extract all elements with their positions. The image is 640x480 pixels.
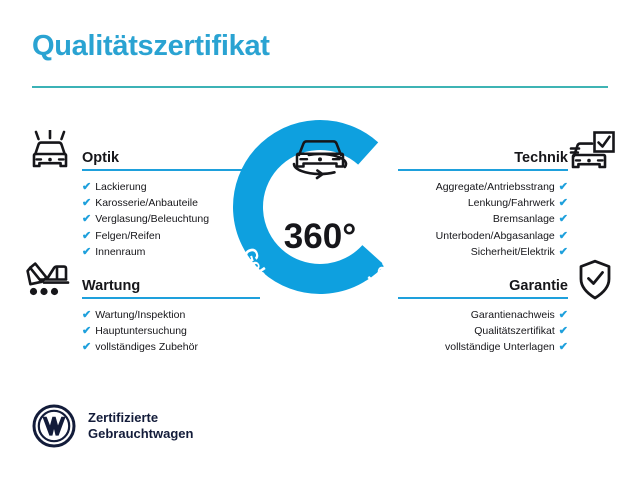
footer-line-1: Zertifizierte <box>88 410 193 426</box>
volkswagen-logo <box>32 404 76 448</box>
section-garantie-title: Garantie <box>509 278 568 294</box>
list-item-label: Bremsanlage <box>493 213 555 225</box>
badge-center-label: 360° <box>284 217 356 256</box>
section-wartung-list: ✔Wartung/Inspektion ✔Hauptuntersuchung ✔… <box>82 307 232 356</box>
list-item: ✔Felgen/Reifen <box>82 228 232 244</box>
check-icon: ✔ <box>82 181 91 193</box>
check-icon: ✔ <box>559 197 568 209</box>
list-item: ✔Hauptuntersuchung <box>82 323 232 339</box>
header-divider <box>32 86 608 88</box>
check-icon: ✔ <box>559 341 568 353</box>
list-item-label: Wartung/Inspektion <box>95 309 185 321</box>
section-technik-underline <box>398 169 568 171</box>
list-item: ✔Wartung/Inspektion <box>82 307 232 323</box>
list-item-label: Unterboden/Abgasanlage <box>436 230 555 242</box>
section-optik-list: ✔Lackierung ✔Karosserie/Anbauteile ✔Verg… <box>82 179 232 260</box>
list-item: Aggregate/Antriebsstrang✔ <box>408 179 568 195</box>
check-icon: ✔ <box>82 197 91 209</box>
list-item: Garantienachweis✔ <box>408 307 568 323</box>
list-item: ✔vollständiges Zubehör <box>82 339 232 355</box>
list-item: Lenkung/Fahrwerk✔ <box>408 195 568 211</box>
check-icon: ✔ <box>559 309 568 321</box>
check-icon: ✔ <box>559 213 568 225</box>
section-garantie-underline <box>398 297 568 299</box>
list-item-label: Felgen/Reifen <box>95 230 160 242</box>
certificate-page: Qualitätszertifikat Optik <box>0 0 640 480</box>
badge-360-gebrauchtwagen-check: Gebrauchtwagen-Check 360° <box>225 112 415 317</box>
check-icon: ✔ <box>559 230 568 242</box>
footer-text: Zertifizierte Gebrauchtwagen <box>88 410 193 442</box>
list-item: Unterboden/Abgasanlage✔ <box>408 228 568 244</box>
section-technik: Technik Aggregate/Antriebsstrang✔ Lenkun… <box>408 142 568 260</box>
list-item-label: Verglasung/Beleuchtung <box>95 213 209 225</box>
check-icon: ✔ <box>82 246 91 258</box>
check-icon: ✔ <box>559 325 568 337</box>
footer: Zertifizierte Gebrauchtwagen <box>32 404 193 448</box>
list-item: ✔Karosserie/Anbauteile <box>82 195 232 211</box>
check-icon: ✔ <box>559 246 568 258</box>
check-icon: ✔ <box>82 230 91 242</box>
footer-line-2: Gebrauchtwagen <box>88 426 193 442</box>
section-optik-title: Optik <box>82 150 119 166</box>
section-optik-header: Optik <box>82 142 232 168</box>
section-technik-list: Aggregate/Antriebsstrang✔ Lenkung/Fahrwe… <box>408 179 568 260</box>
list-item-label: Aggregate/Antriebsstrang <box>436 181 555 193</box>
list-item-label: Lackierung <box>95 181 146 193</box>
list-item: ✔Verglasung/Beleuchtung <box>82 211 232 227</box>
section-optik: Optik ✔Lackierung ✔Karosserie/Anbauteile… <box>82 142 232 260</box>
check-icon: ✔ <box>82 213 91 225</box>
section-garantie: Garantie Garantienachweis✔ Qualitätszert… <box>408 270 568 356</box>
list-item-label: Garantienachweis <box>471 309 555 321</box>
list-item: Sicherheit/Elektrik✔ <box>408 244 568 260</box>
check-icon: ✔ <box>82 309 91 321</box>
list-item-label: Lenkung/Fahrwerk <box>468 197 555 209</box>
list-item: Qualitätszertifikat✔ <box>408 323 568 339</box>
car-shine-icon <box>26 130 74 174</box>
section-technik-header: Technik <box>408 142 568 168</box>
list-item-label: Sicherheit/Elektrik <box>471 246 555 258</box>
list-item: ✔Innenraum <box>82 244 232 260</box>
list-item-label: Innenraum <box>95 246 145 258</box>
car-checkbox-icon <box>568 130 616 174</box>
section-wartung-header: Wartung <box>82 270 232 296</box>
list-item-label: vollständige Unterlagen <box>445 341 555 353</box>
section-wartung: Wartung ✔Wartung/Inspektion ✔Hauptunters… <box>82 270 232 356</box>
list-item-label: Qualitätszertifikat <box>474 325 555 337</box>
section-garantie-list: Garantienachweis✔ Qualitätszertifikat✔ v… <box>408 307 568 356</box>
section-wartung-title: Wartung <box>82 278 140 294</box>
list-item: ✔Lackierung <box>82 179 232 195</box>
section-technik-title: Technik <box>514 150 568 166</box>
section-garantie-header: Garantie <box>408 270 568 296</box>
list-item-label: Hauptuntersuchung <box>95 325 187 337</box>
shield-check-icon <box>572 258 620 302</box>
check-icon: ✔ <box>559 181 568 193</box>
car-service-pen-icon <box>24 258 72 302</box>
list-item-label: Karosserie/Anbauteile <box>95 197 198 209</box>
list-item: vollständige Unterlagen✔ <box>408 339 568 355</box>
check-icon: ✔ <box>82 341 91 353</box>
list-item: Bremsanlage✔ <box>408 211 568 227</box>
page-title: Qualitätszertifikat <box>32 30 270 63</box>
list-item-label: vollständiges Zubehör <box>95 341 198 353</box>
check-icon: ✔ <box>82 325 91 337</box>
